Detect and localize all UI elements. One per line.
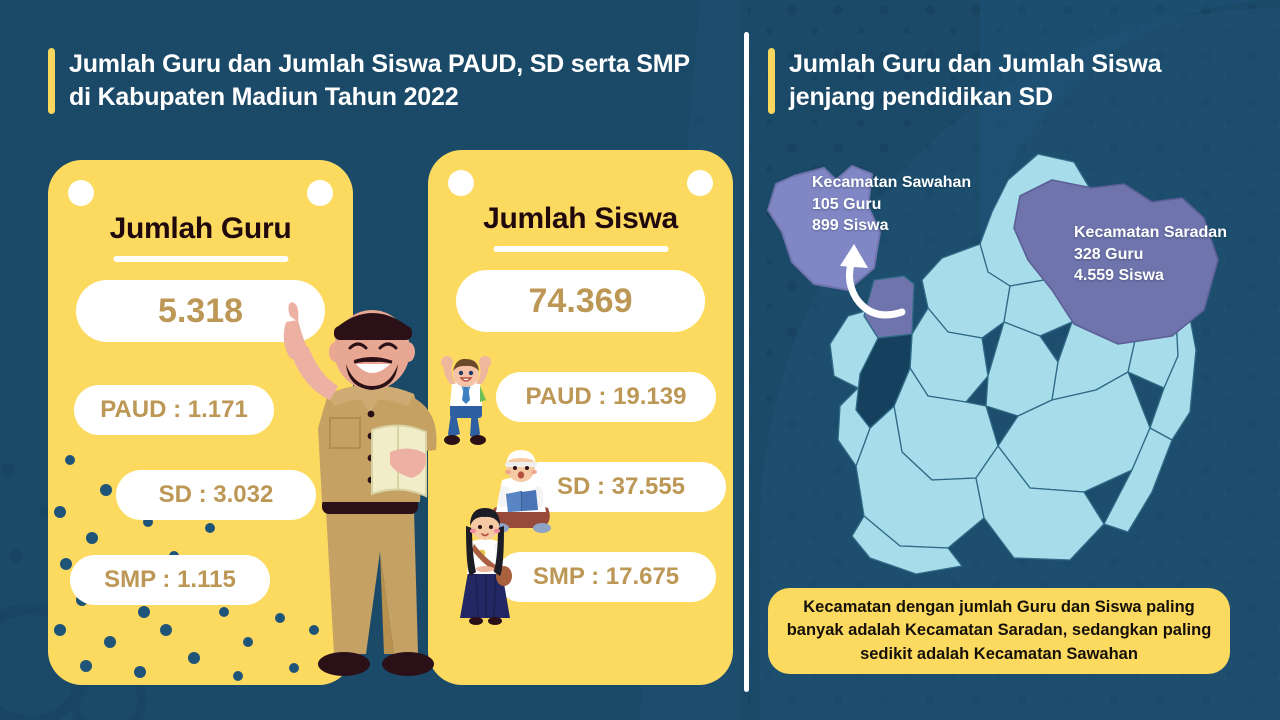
card-punch-hole-left [448,170,474,196]
map-annotation-sawahan: Kecamatan Sawahan 105 Guru 899 Siswa [812,172,971,237]
left-panel-title: Jumlah Guru dan Jumlah Siswa PAUD, SD se… [48,48,708,114]
card-punch-hole-right [687,170,713,196]
card-heading: Jumlah Guru [48,212,353,246]
card-breakdown-smp: SMP : 17.675 [496,552,716,602]
card-punch-hole-right [307,180,333,206]
card-breakdown-paud: PAUD : 1.171 [74,385,274,435]
left-title-text: Jumlah Guru dan Jumlah Siswa PAUD, SD se… [69,48,708,114]
title-accent-bar [48,48,55,114]
card-punch-hole-left [68,180,94,206]
saradan-students: 4.559 Siswa [1074,265,1227,287]
card-breakdown-paud: PAUD : 19.139 [496,372,716,422]
panel-divider [744,32,749,692]
sawahan-teachers: 105 Guru [812,194,971,216]
student-boy-cheering-illustration [430,356,502,448]
card-heading-rule [113,256,288,262]
title-accent-bar [768,48,775,114]
sawahan-students: 899 Siswa [812,215,971,237]
saradan-district-name: Kecamatan Saradan [1074,222,1227,244]
card-heading: Jumlah Siswa [428,202,733,236]
map-annotation-saradan: Kecamatan Saradan 328 Guru 4.559 Siswa [1074,222,1227,287]
card-heading-rule [493,246,668,252]
sawahan-district-name: Kecamatan Sawahan [812,172,971,194]
saradan-teachers: 328 Guru [1074,244,1227,266]
right-panel-title: Jumlah Guru dan Jumlah Siswa jenjang pen… [768,48,1238,114]
right-title-text: Jumlah Guru dan Jumlah Siswa jenjang pen… [789,48,1238,114]
card-breakdown-smp: SMP : 1.115 [70,555,270,605]
student-girl-illustration [452,506,518,628]
summary-caption: Kecamatan dengan jumlah Guru dan Siswa p… [768,588,1230,674]
card-total-value: 74.369 [456,270,705,332]
